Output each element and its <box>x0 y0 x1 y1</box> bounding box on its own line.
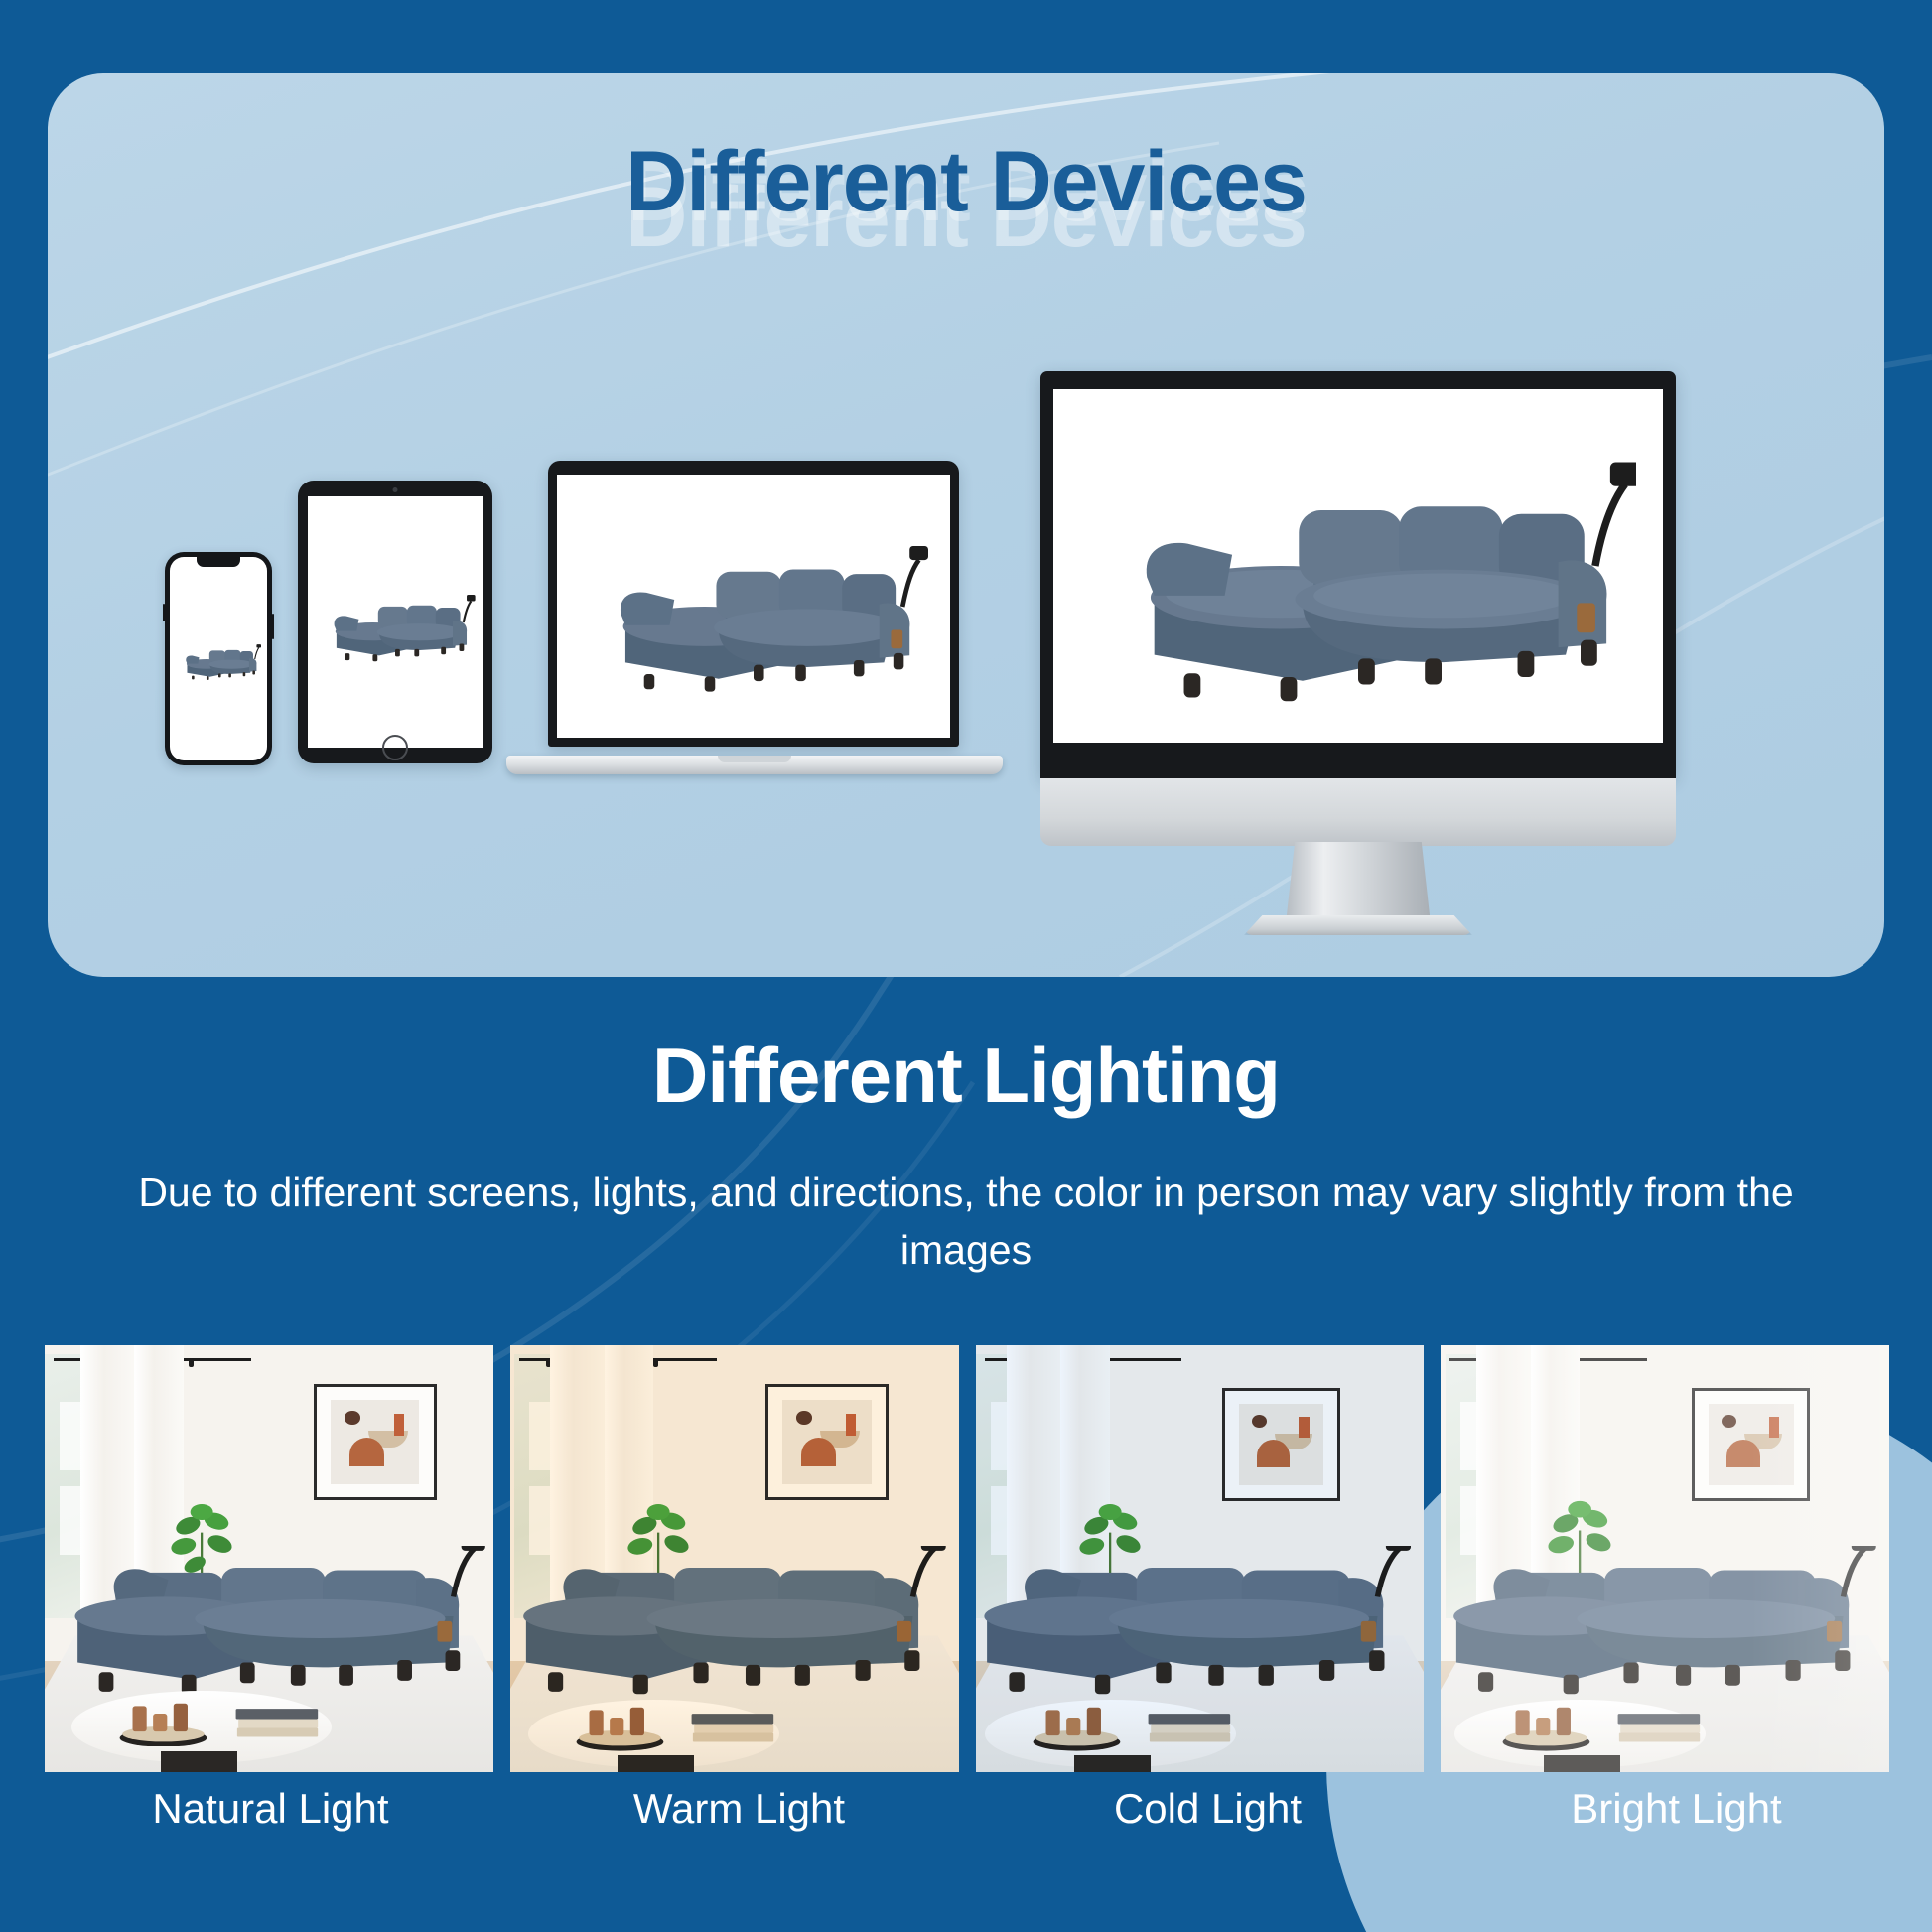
monitor-screen <box>1053 389 1663 743</box>
candles-on-tray <box>107 1696 219 1747</box>
laptop-lid <box>548 461 959 747</box>
smartphone-notch-icon <box>197 557 240 567</box>
laptop-base <box>506 756 1003 774</box>
stacked-books <box>1146 1709 1235 1747</box>
monitor-stand-foot <box>1244 915 1472 935</box>
smartphone-product-image <box>170 557 267 760</box>
device-tablet[interactable] <box>298 481 492 763</box>
poster-canvas: Different Devices Different Devices <box>0 0 1932 1932</box>
candles-on-tray <box>564 1700 676 1751</box>
device-laptop[interactable] <box>506 461 1003 778</box>
laptop-screen <box>557 475 950 738</box>
sofa-illustration <box>579 513 928 700</box>
device-smartphone[interactable] <box>165 552 272 765</box>
different-devices-panel: Different Devices Different Devices <box>48 73 1884 977</box>
room-photo-cold-light[interactable] <box>976 1345 1425 1772</box>
sectional-sofa <box>510 1546 959 1704</box>
room-label-natural-light: Natural Light <box>45 1785 496 1833</box>
sofa-illustration <box>315 580 476 665</box>
device-mockup-row <box>48 322 1884 957</box>
room-photo-warm-light[interactable] <box>510 1345 959 1772</box>
lighting-room-gallery <box>45 1345 1889 1772</box>
tablet-home-button[interactable] <box>382 735 408 760</box>
monitor-stand-neck <box>1287 842 1431 919</box>
tablet-screen <box>308 496 483 748</box>
monitor-chin <box>1040 778 1676 846</box>
stacked-books <box>233 1704 323 1742</box>
tablet-product-image <box>308 496 483 748</box>
sofa-illustration <box>1080 417 1636 715</box>
lighting-section-title: Different Lighting <box>0 1031 1932 1121</box>
tablet-camera-icon <box>393 487 398 492</box>
smartphone-screen <box>170 557 267 760</box>
room-label-cold-light: Cold Light <box>982 1785 1434 1833</box>
room-photo-bright-light[interactable] <box>1441 1345 1889 1772</box>
coffee-table-base <box>161 1751 237 1773</box>
sectional-sofa <box>976 1546 1425 1704</box>
device-desktop-monitor[interactable] <box>1040 371 1676 927</box>
room-photo-natural-light[interactable] <box>45 1345 493 1772</box>
candles-on-tray <box>1021 1700 1133 1751</box>
stacked-books <box>689 1709 778 1747</box>
laptop-trackpad-notch <box>718 756 791 762</box>
sectional-sofa <box>54 1546 493 1704</box>
room-label-bright-light: Bright Light <box>1450 1785 1902 1833</box>
smartphone-volume-button[interactable] <box>163 604 165 621</box>
laptop-product-image <box>557 475 950 738</box>
room-label-warm-light: Warm Light <box>513 1785 965 1833</box>
monitor-product-image <box>1053 389 1663 743</box>
sofa-illustration <box>176 636 261 682</box>
candles-on-tray <box>1490 1700 1602 1751</box>
sectional-sofa <box>1441 1546 1889 1704</box>
devices-section-title: Different Devices <box>48 133 1884 231</box>
framed-wall-art <box>314 1384 436 1501</box>
smartphone-side-button[interactable] <box>272 614 274 639</box>
lighting-section-subtitle: Due to different screens, lights, and di… <box>69 1164 1863 1279</box>
monitor-bezel <box>1040 371 1676 778</box>
stacked-books <box>1615 1709 1705 1747</box>
